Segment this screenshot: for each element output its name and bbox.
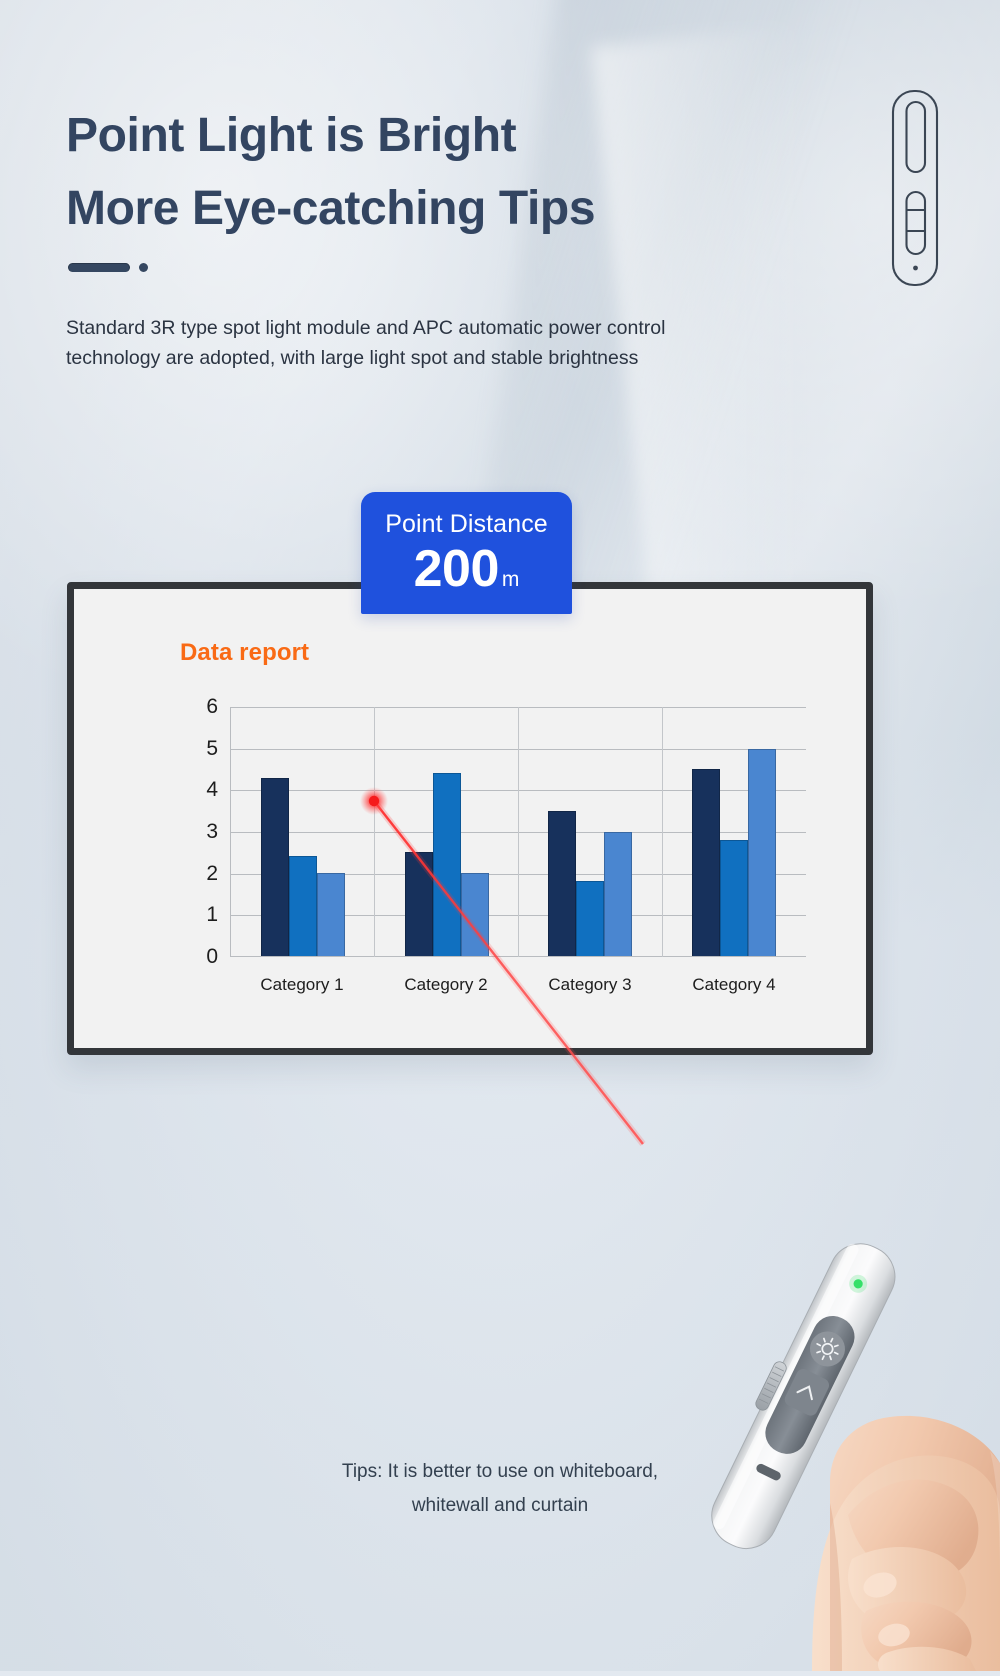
badge-label: Point Distance	[361, 492, 572, 537]
bar	[289, 856, 317, 956]
divider-dot	[139, 263, 148, 272]
x-axis-labels: Category 1Category 2Category 3Category 4	[230, 975, 806, 995]
chart-plot-area: 6543210	[230, 707, 806, 957]
x-axis-label: Category 1	[230, 975, 374, 995]
bar	[576, 881, 604, 956]
hand-holding-remote	[580, 1111, 1000, 1671]
x-axis-label: Category 3	[518, 975, 662, 995]
bar	[261, 778, 289, 956]
bar	[433, 773, 461, 956]
promo-page: Point Light is Bright More Eye-catching …	[0, 0, 1000, 1671]
bar	[692, 769, 720, 956]
chart-title: Data report	[180, 639, 309, 667]
presenter-remote-outline-icon	[884, 88, 946, 288]
bar	[461, 873, 489, 956]
x-axis-label: Category 4	[662, 975, 806, 995]
badge-value: 200	[414, 542, 499, 597]
bar	[405, 852, 433, 956]
y-axis-tick: 2	[206, 862, 218, 886]
headline-line-1: Point Light is Bright	[66, 109, 516, 162]
page-title: Point Light is Bright More Eye-catching …	[66, 100, 826, 246]
bar-chart: 6543210 Category 1Category 2Category 3Ca…	[172, 707, 812, 997]
bar-group	[375, 707, 519, 956]
bar	[748, 749, 776, 957]
bar-group	[519, 707, 663, 956]
y-axis-tick: 6	[206, 695, 218, 719]
title-divider	[68, 263, 148, 272]
y-axis-tick: 1	[206, 903, 218, 927]
hand	[812, 1416, 1000, 1671]
whiteboard-screen: Data report 6543210 Category 1Category 2…	[67, 582, 873, 1055]
badge-value-row: 200 m	[361, 537, 572, 597]
y-axis-tick: 5	[206, 737, 218, 761]
bar-group	[231, 707, 375, 956]
x-axis-label: Category 2	[374, 975, 518, 995]
bar	[548, 811, 576, 956]
bar	[720, 840, 748, 956]
y-axis-tick: 3	[206, 820, 218, 844]
divider-bar	[68, 263, 130, 272]
status-badge: Point Distance 200 m	[361, 492, 572, 614]
y-axis-tick: 0	[206, 945, 218, 969]
badge-unit: m	[499, 568, 520, 592]
bar	[604, 832, 632, 957]
hero-description: Standard 3R type spot light module and A…	[66, 313, 706, 373]
headline-line-2: More Eye-catching Tips	[66, 173, 826, 246]
bar-groups	[231, 707, 806, 956]
y-axis-tick: 4	[206, 778, 218, 802]
bar-group	[662, 707, 806, 956]
bar	[317, 873, 345, 956]
